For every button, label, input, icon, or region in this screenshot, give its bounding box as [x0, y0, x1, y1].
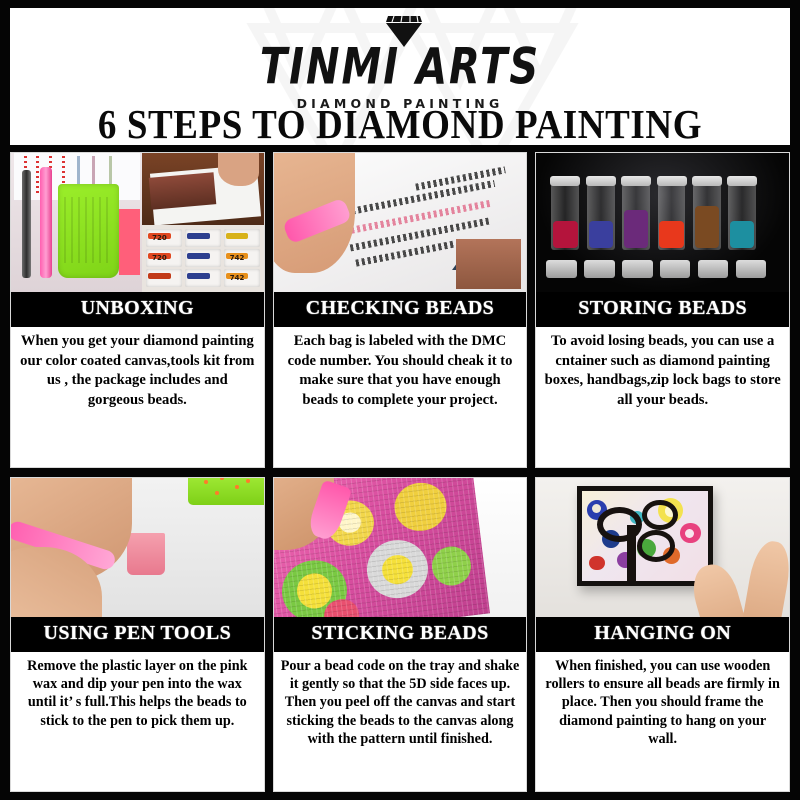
step-title-using-pen-tools: USING PEN TOOLS [11, 617, 264, 651]
step-title-checking-beads: CHECKING BEADS [274, 292, 527, 326]
bead-bag-label: 742 [226, 253, 249, 259]
step-card-using-pen-tools: USING PEN TOOLS Remove the plastic layer… [10, 477, 265, 793]
step-title-hanging-on: HANGING ON [536, 617, 789, 651]
page-title: 6 STEPS TO DIAMOND PAINTING [10, 101, 790, 145]
step-photo-unboxing: 720 720 742 742 [11, 153, 264, 292]
bead-bag-label: 720 [148, 233, 171, 239]
bead-bag-label: 720 [148, 253, 171, 259]
step-text-sticking-beads: Pour a bead code on the tray and shake i… [274, 651, 527, 792]
brand-name: TINMI ARTS [10, 42, 790, 92]
step-card-storing-beads: STORING BEADS To avoid losing beads, you… [535, 152, 790, 468]
step-photo-hanging-on [536, 478, 789, 617]
step-text-checking-beads: Each bag is labeled with the DMC code nu… [274, 326, 527, 467]
poster-header: TINMI ARTS DIAMOND PAINTING 6 STEPS TO D… [10, 8, 790, 145]
step-text-storing-beads: To avoid losing beads, you can use a cnt… [536, 326, 789, 467]
step-card-checking-beads: CHECKING BEADS Each bag is labeled with … [273, 152, 528, 468]
step-title-sticking-beads: STICKING BEADS [274, 617, 527, 651]
step-title-storing-beads: STORING BEADS [536, 292, 789, 326]
step-photo-sticking-beads [274, 478, 527, 617]
step-photo-checking-beads [274, 153, 527, 292]
step-card-hanging-on: HANGING ON When finished, you can use wo… [535, 477, 790, 793]
bead-bags-group: 720 720 742 742 [142, 225, 263, 292]
step-text-unboxing: When you get your diamond painting our c… [11, 326, 264, 467]
step-card-unboxing: 720 720 742 742 UNBOXING When you get yo… [10, 152, 265, 468]
framed-artwork [577, 486, 713, 586]
infographic-poster: TINMI ARTS DIAMOND PAINTING 6 STEPS TO D… [0, 0, 800, 800]
step-text-hanging-on: When finished, you can use wooden roller… [536, 651, 789, 792]
bead-bag-label: 742 [226, 273, 249, 279]
steps-grid: 720 720 742 742 UNBOXING When you get yo… [10, 152, 790, 792]
brand-logo: TINMI ARTS DIAMOND PAINTING [10, 14, 790, 111]
step-title-unboxing: UNBOXING [11, 292, 264, 326]
step-card-sticking-beads: STICKING BEADS Pour a bead code on the t… [273, 477, 528, 793]
step-text-using-pen-tools: Remove the plastic layer on the pink wax… [11, 651, 264, 792]
step-photo-using-pen-tools [11, 478, 264, 617]
step-photo-storing-beads [536, 153, 789, 292]
